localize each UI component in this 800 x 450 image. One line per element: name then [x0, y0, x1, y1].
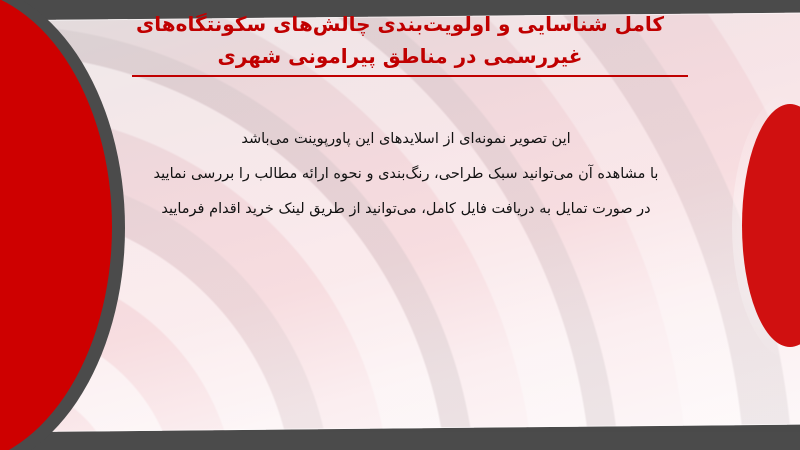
slide-body-line-3: در صورت تمایل به دریافت فایل کامل، می‌تو…	[102, 192, 710, 227]
slide-body-line-1: این تصویر نمونه‌ای از اسلایدهای این پاور…	[102, 122, 710, 157]
presentation-slide: کامل شناسایی و اولویت‌بندی چالش‌های سکون…	[0, 0, 800, 450]
slide-title: کامل شناسایی و اولویت‌بندی چالش‌های سکون…	[110, 8, 690, 73]
slide-body-text: این تصویر نمونه‌ای از اسلایدهای این پاور…	[102, 122, 710, 227]
slide-body-line-2: با مشاهده آن می‌توانید سبک طراحی، رنگ‌بن…	[102, 157, 710, 192]
slide-title-line-1: کامل شناسایی و اولویت‌بندی چالش‌های سکون…	[110, 8, 690, 40]
title-underline-rule	[132, 75, 688, 77]
slide-title-line-2: غیررسمی در مناطق پیرامونی شهری	[110, 40, 690, 72]
